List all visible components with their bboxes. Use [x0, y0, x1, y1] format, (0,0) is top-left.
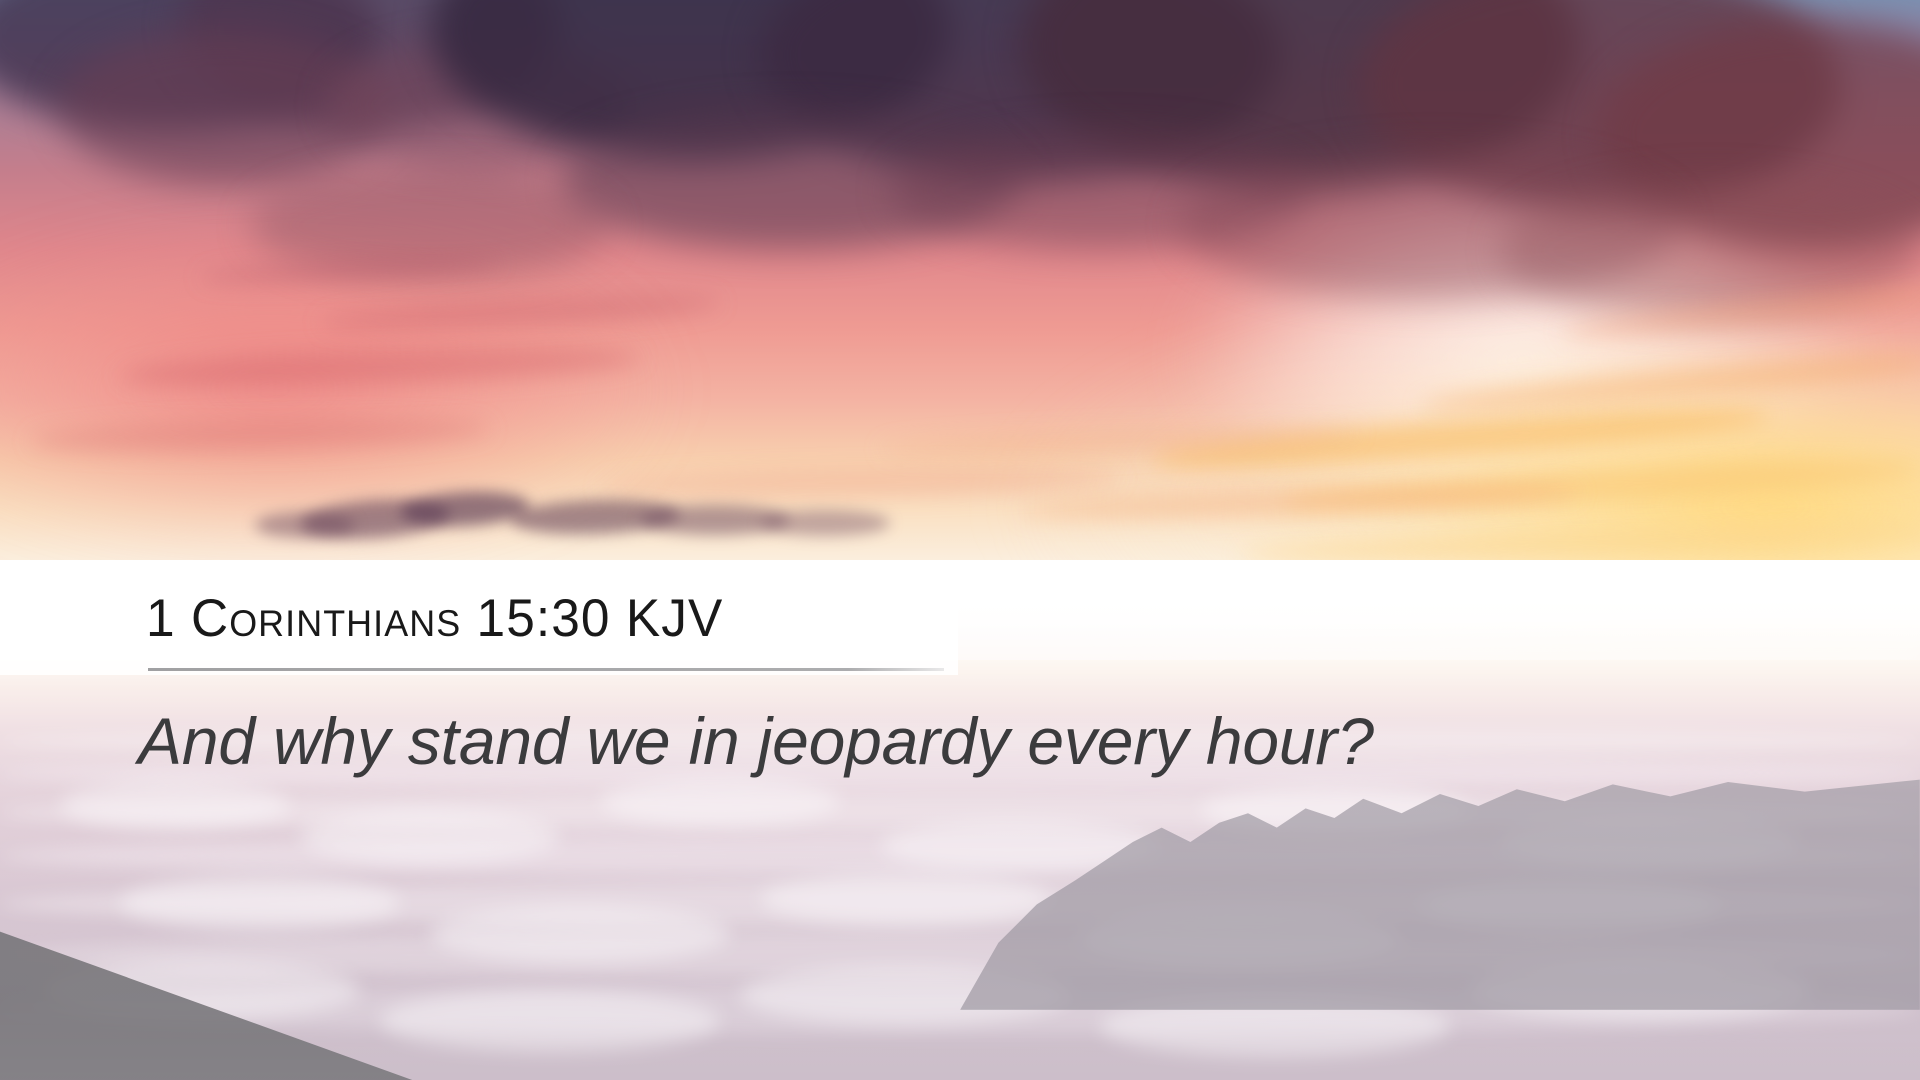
cloud-lump: [430, 905, 730, 963]
cloud-lump: [760, 872, 1050, 926]
cloud-lump: [120, 875, 400, 931]
background-photo: [0, 0, 1920, 1080]
reference-underline: [148, 668, 944, 671]
cloud-lump: [380, 990, 720, 1052]
cloud-lump: [300, 810, 560, 864]
wallpaper-canvas: 1 Corinthians 15:30 KJV And why stand we…: [0, 0, 1920, 1080]
verse-text: And why stand we in jeopardy every hour?: [138, 700, 1618, 783]
cloud-puff: [760, 510, 890, 536]
cloud-puff: [255, 512, 355, 538]
cloud-lump: [600, 778, 840, 826]
verse-reference: 1 Corinthians 15:30 KJV: [146, 592, 723, 645]
cloud-lump: [60, 780, 290, 830]
